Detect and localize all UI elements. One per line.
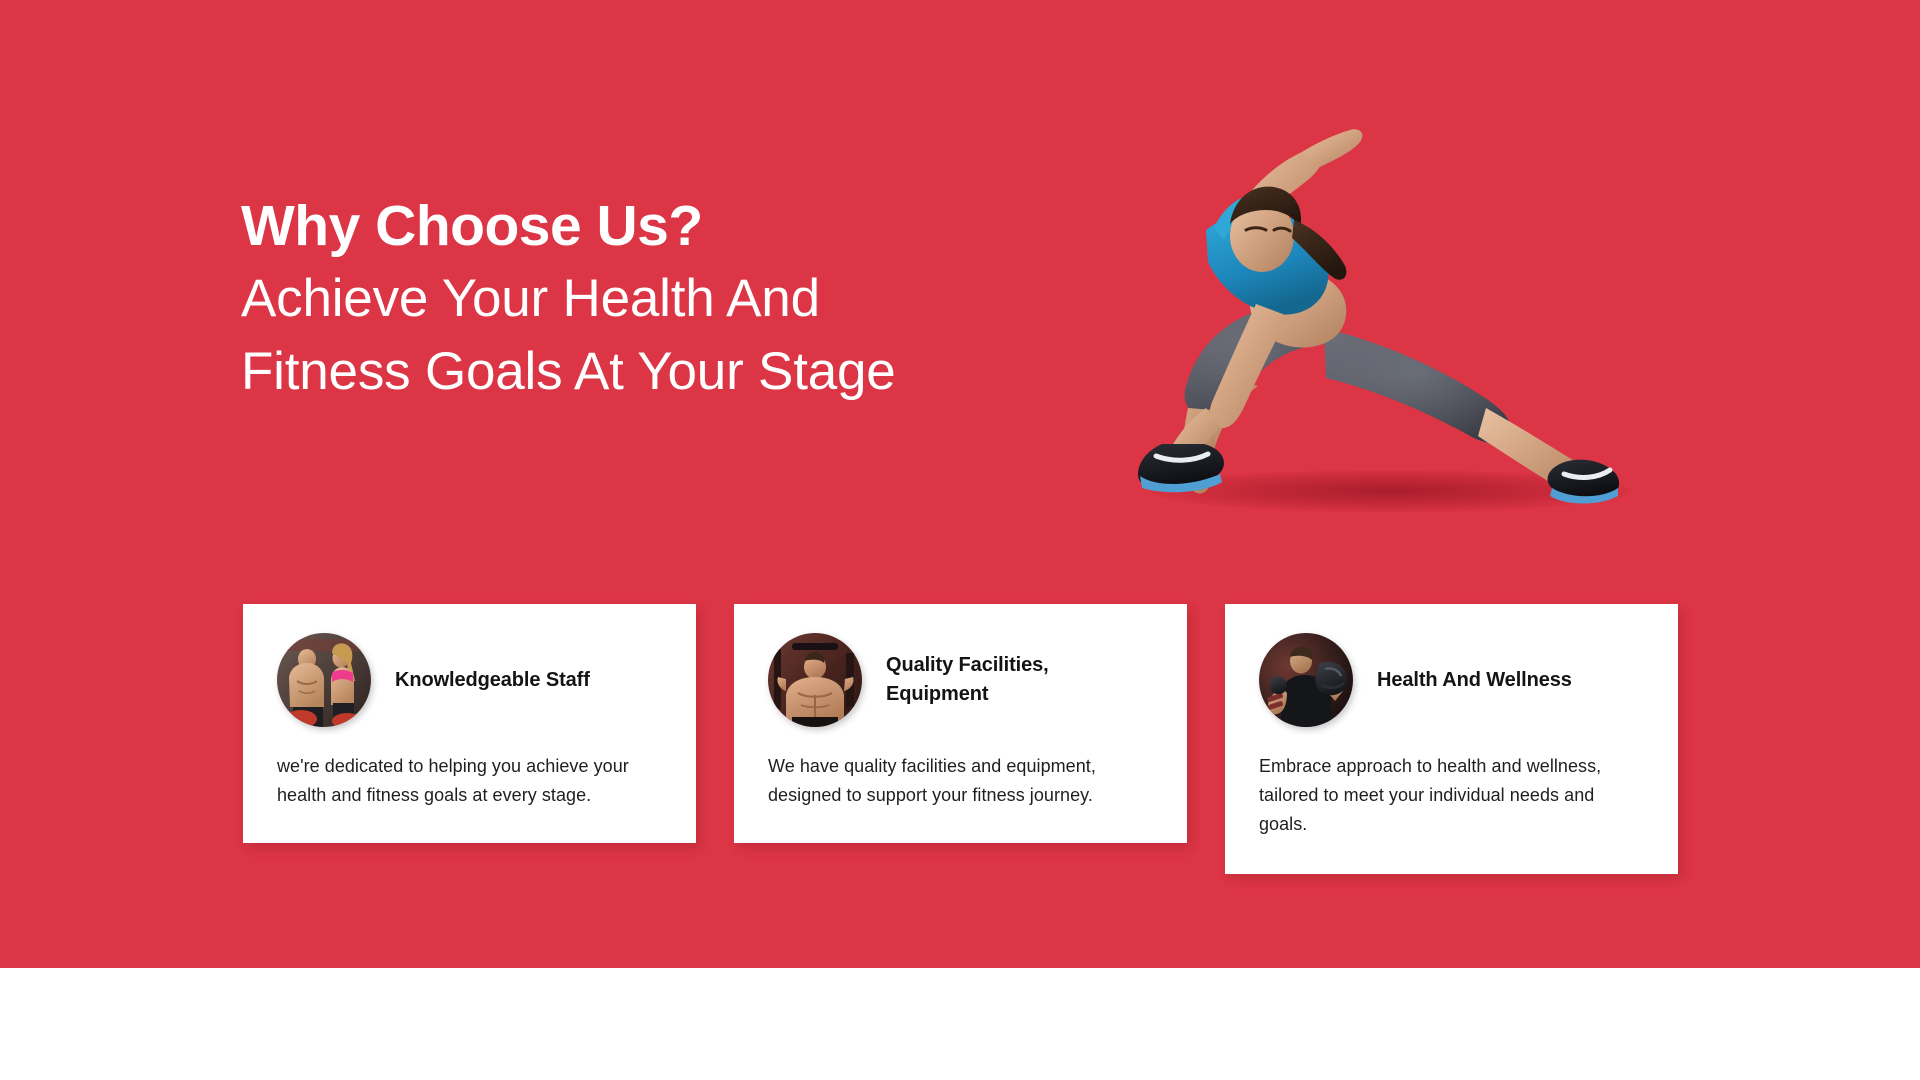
card-title: Quality Facilities, Equipment (886, 651, 1153, 709)
hero-heading-line-2: Achieve Your Health And (241, 262, 1061, 335)
gym-couple-avatar-icon (277, 633, 371, 727)
card-description: Embrace approach to health and wellness,… (1259, 752, 1644, 839)
feature-card-health-and-wellness[interactable]: Health And Wellness Embrace approach to … (1225, 604, 1678, 874)
hero-heading-block: Why Choose Us? Achieve Your Health And F… (241, 190, 1061, 408)
card-description: we're dedicated to helping you achieve y… (277, 752, 662, 810)
page-bottom-strip (0, 968, 1920, 1080)
feature-card-knowledgeable-staff[interactable]: Knowledgeable Staff we're dedicated to h… (243, 604, 696, 843)
card-title: Knowledgeable Staff (395, 666, 590, 695)
why-choose-us-section: Why Choose Us? Achieve Your Health And F… (0, 0, 1920, 968)
hero-heading-line-3: Fitness Goals At Your Stage (241, 335, 1061, 408)
hero-athlete-image (1110, 78, 1670, 528)
feature-cards-row: Knowledgeable Staff we're dedicated to h… (243, 604, 1677, 894)
card-header: Health And Wellness (1259, 630, 1644, 730)
page-root: Why Choose Us? Achieve Your Health And F… (0, 0, 1920, 1080)
card-description: We have quality facilities and equipment… (768, 752, 1153, 810)
feature-card-quality-facilities-equipment[interactable]: Quality Facilities, Equipment We have qu… (734, 604, 1187, 843)
bench-press-man-avatar-icon (768, 633, 862, 727)
card-header: Quality Facilities, Equipment (768, 630, 1153, 730)
hero-heading-line-1: Why Choose Us? (241, 190, 1061, 262)
athlete-figure-icon (1110, 78, 1670, 528)
card-title: Health And Wellness (1377, 666, 1572, 695)
boxer-avatar-icon (1259, 633, 1353, 727)
card-header: Knowledgeable Staff (277, 630, 662, 730)
